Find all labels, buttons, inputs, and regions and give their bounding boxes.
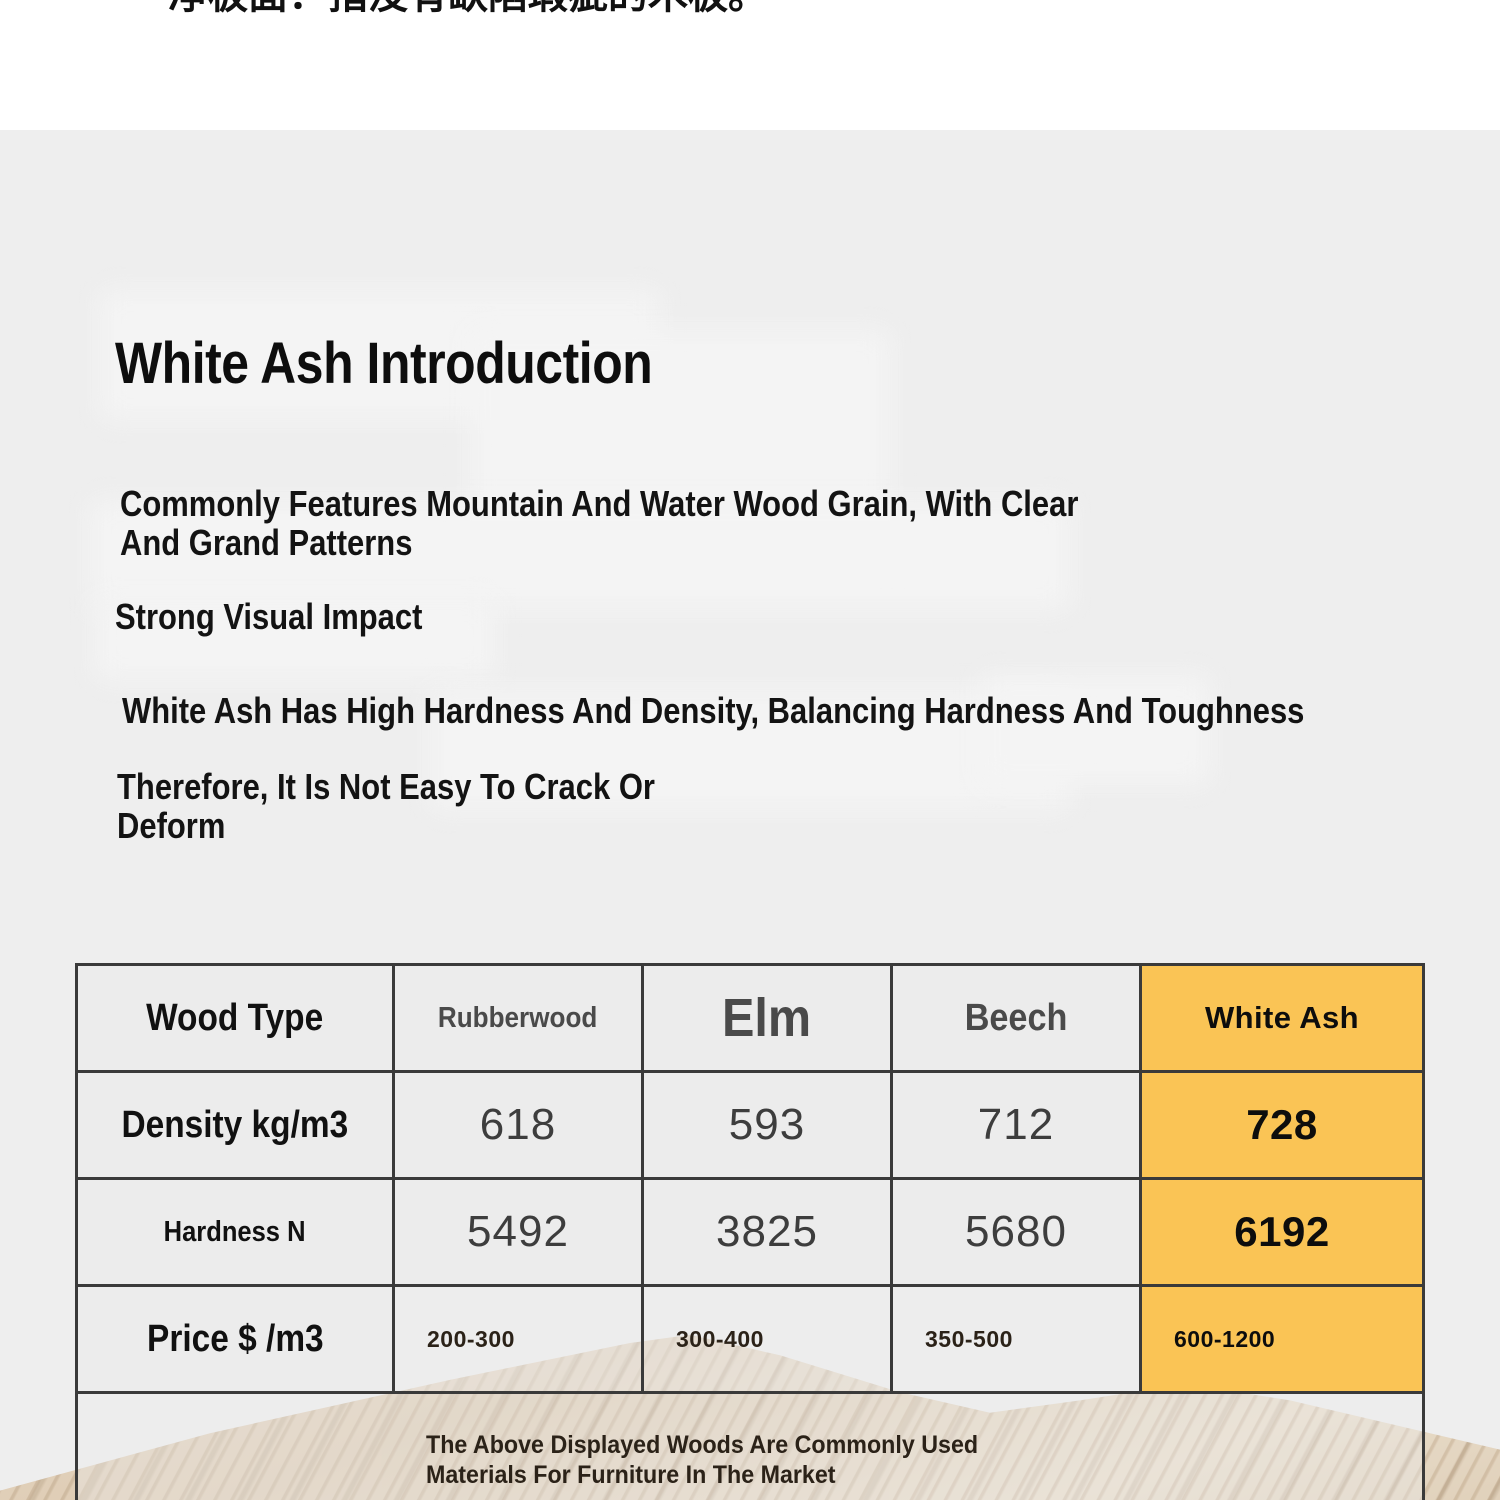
- row-label-density: Density kg/m3: [78, 1073, 392, 1177]
- feature-text-grain: Commonly Features Mountain And Water Woo…: [120, 485, 1078, 563]
- table-row-hardness: Hardness N 5492 3825 5680 6192: [78, 1177, 1422, 1284]
- header-label: Elm: [722, 987, 811, 1049]
- header-cell-elm: Elm: [641, 966, 890, 1070]
- footnote-cell: The Above Displayed Woods Are Commonly U…: [78, 1394, 1422, 1500]
- cell-density-beech: 712: [890, 1073, 1139, 1177]
- feature-text-hardness: White Ash Has High Hardness And Density,…: [122, 692, 1304, 731]
- row-label: Hardness N: [164, 1216, 306, 1249]
- cell-value: 593: [729, 1100, 805, 1150]
- page-title: White Ash Introduction: [115, 330, 652, 397]
- cell-density-white-ash: 728: [1139, 1073, 1422, 1177]
- cell-hardness-rubberwood: 5492: [392, 1180, 641, 1284]
- header-label: White Ash: [1205, 1000, 1359, 1036]
- cell-value: 5680: [965, 1207, 1067, 1257]
- cell-price-rubberwood: 200-300: [392, 1287, 641, 1391]
- cell-value: 712: [978, 1100, 1054, 1150]
- cell-price-elm: 300-400: [641, 1287, 890, 1391]
- header-label: Rubberwood: [438, 1002, 597, 1035]
- header-cell-rubberwood: Rubberwood: [392, 966, 641, 1070]
- header-label: Beech: [965, 997, 1068, 1040]
- cell-hardness-elm: 3825: [641, 1180, 890, 1284]
- page-root: 净板面：指没有缺陷瑕疵的木板。 White Ash Introduction C…: [0, 0, 1500, 1500]
- cell-value: 300-400: [676, 1326, 764, 1353]
- row-label-hardness: Hardness N: [78, 1180, 392, 1284]
- cell-value: 6192: [1234, 1208, 1329, 1256]
- top-clipped-note: 净板面：指没有缺陷瑕疵的木板。: [168, 0, 768, 20]
- wood-comparison-table: Wood Type Rubberwood Elm Beech White Ash: [75, 963, 1425, 1500]
- table-row-density: Density kg/m3 618 593 712 728: [78, 1070, 1422, 1177]
- cell-value: 618: [480, 1100, 556, 1150]
- feature-text-visual-impact: Strong Visual Impact: [115, 598, 422, 637]
- top-clipped-strip: 净板面：指没有缺陷瑕疵的木板。: [0, 0, 1500, 130]
- header-cell-wood-type: Wood Type: [78, 966, 392, 1070]
- cell-value: 5492: [467, 1207, 569, 1257]
- feature-text-crack-resistance: Therefore, It Is Not Easy To Crack Or De…: [117, 768, 655, 846]
- row-label: Density kg/m3: [122, 1104, 349, 1147]
- table-row-price: Price $ /m3 200-300 300-400 350-500 600-…: [78, 1284, 1422, 1391]
- cell-price-white-ash: 600-1200: [1139, 1287, 1422, 1391]
- cell-hardness-white-ash: 6192: [1139, 1180, 1422, 1284]
- header-cell-beech: Beech: [890, 966, 1139, 1070]
- footnote-text: The Above Displayed Woods Are Commonly U…: [426, 1430, 978, 1491]
- cell-density-rubberwood: 618: [392, 1073, 641, 1177]
- content-area: White Ash Introduction Commonly Features…: [0, 130, 1500, 1500]
- table-header-row: Wood Type Rubberwood Elm Beech White Ash: [78, 966, 1422, 1070]
- cell-value: 600-1200: [1174, 1326, 1275, 1353]
- cell-value: 350-500: [925, 1326, 1013, 1353]
- cell-hardness-beech: 5680: [890, 1180, 1139, 1284]
- cell-density-elm: 593: [641, 1073, 890, 1177]
- cell-value: 200-300: [427, 1326, 515, 1353]
- header-cell-white-ash: White Ash: [1139, 966, 1422, 1070]
- cell-value: 3825: [716, 1207, 818, 1257]
- row-label-price: Price $ /m3: [78, 1287, 392, 1391]
- cell-value: 728: [1246, 1101, 1318, 1149]
- header-label: Wood Type: [146, 997, 323, 1040]
- row-label: Price $ /m3: [147, 1318, 324, 1361]
- cell-price-beech: 350-500: [890, 1287, 1139, 1391]
- table-footnote-row: The Above Displayed Woods Are Commonly U…: [78, 1391, 1422, 1500]
